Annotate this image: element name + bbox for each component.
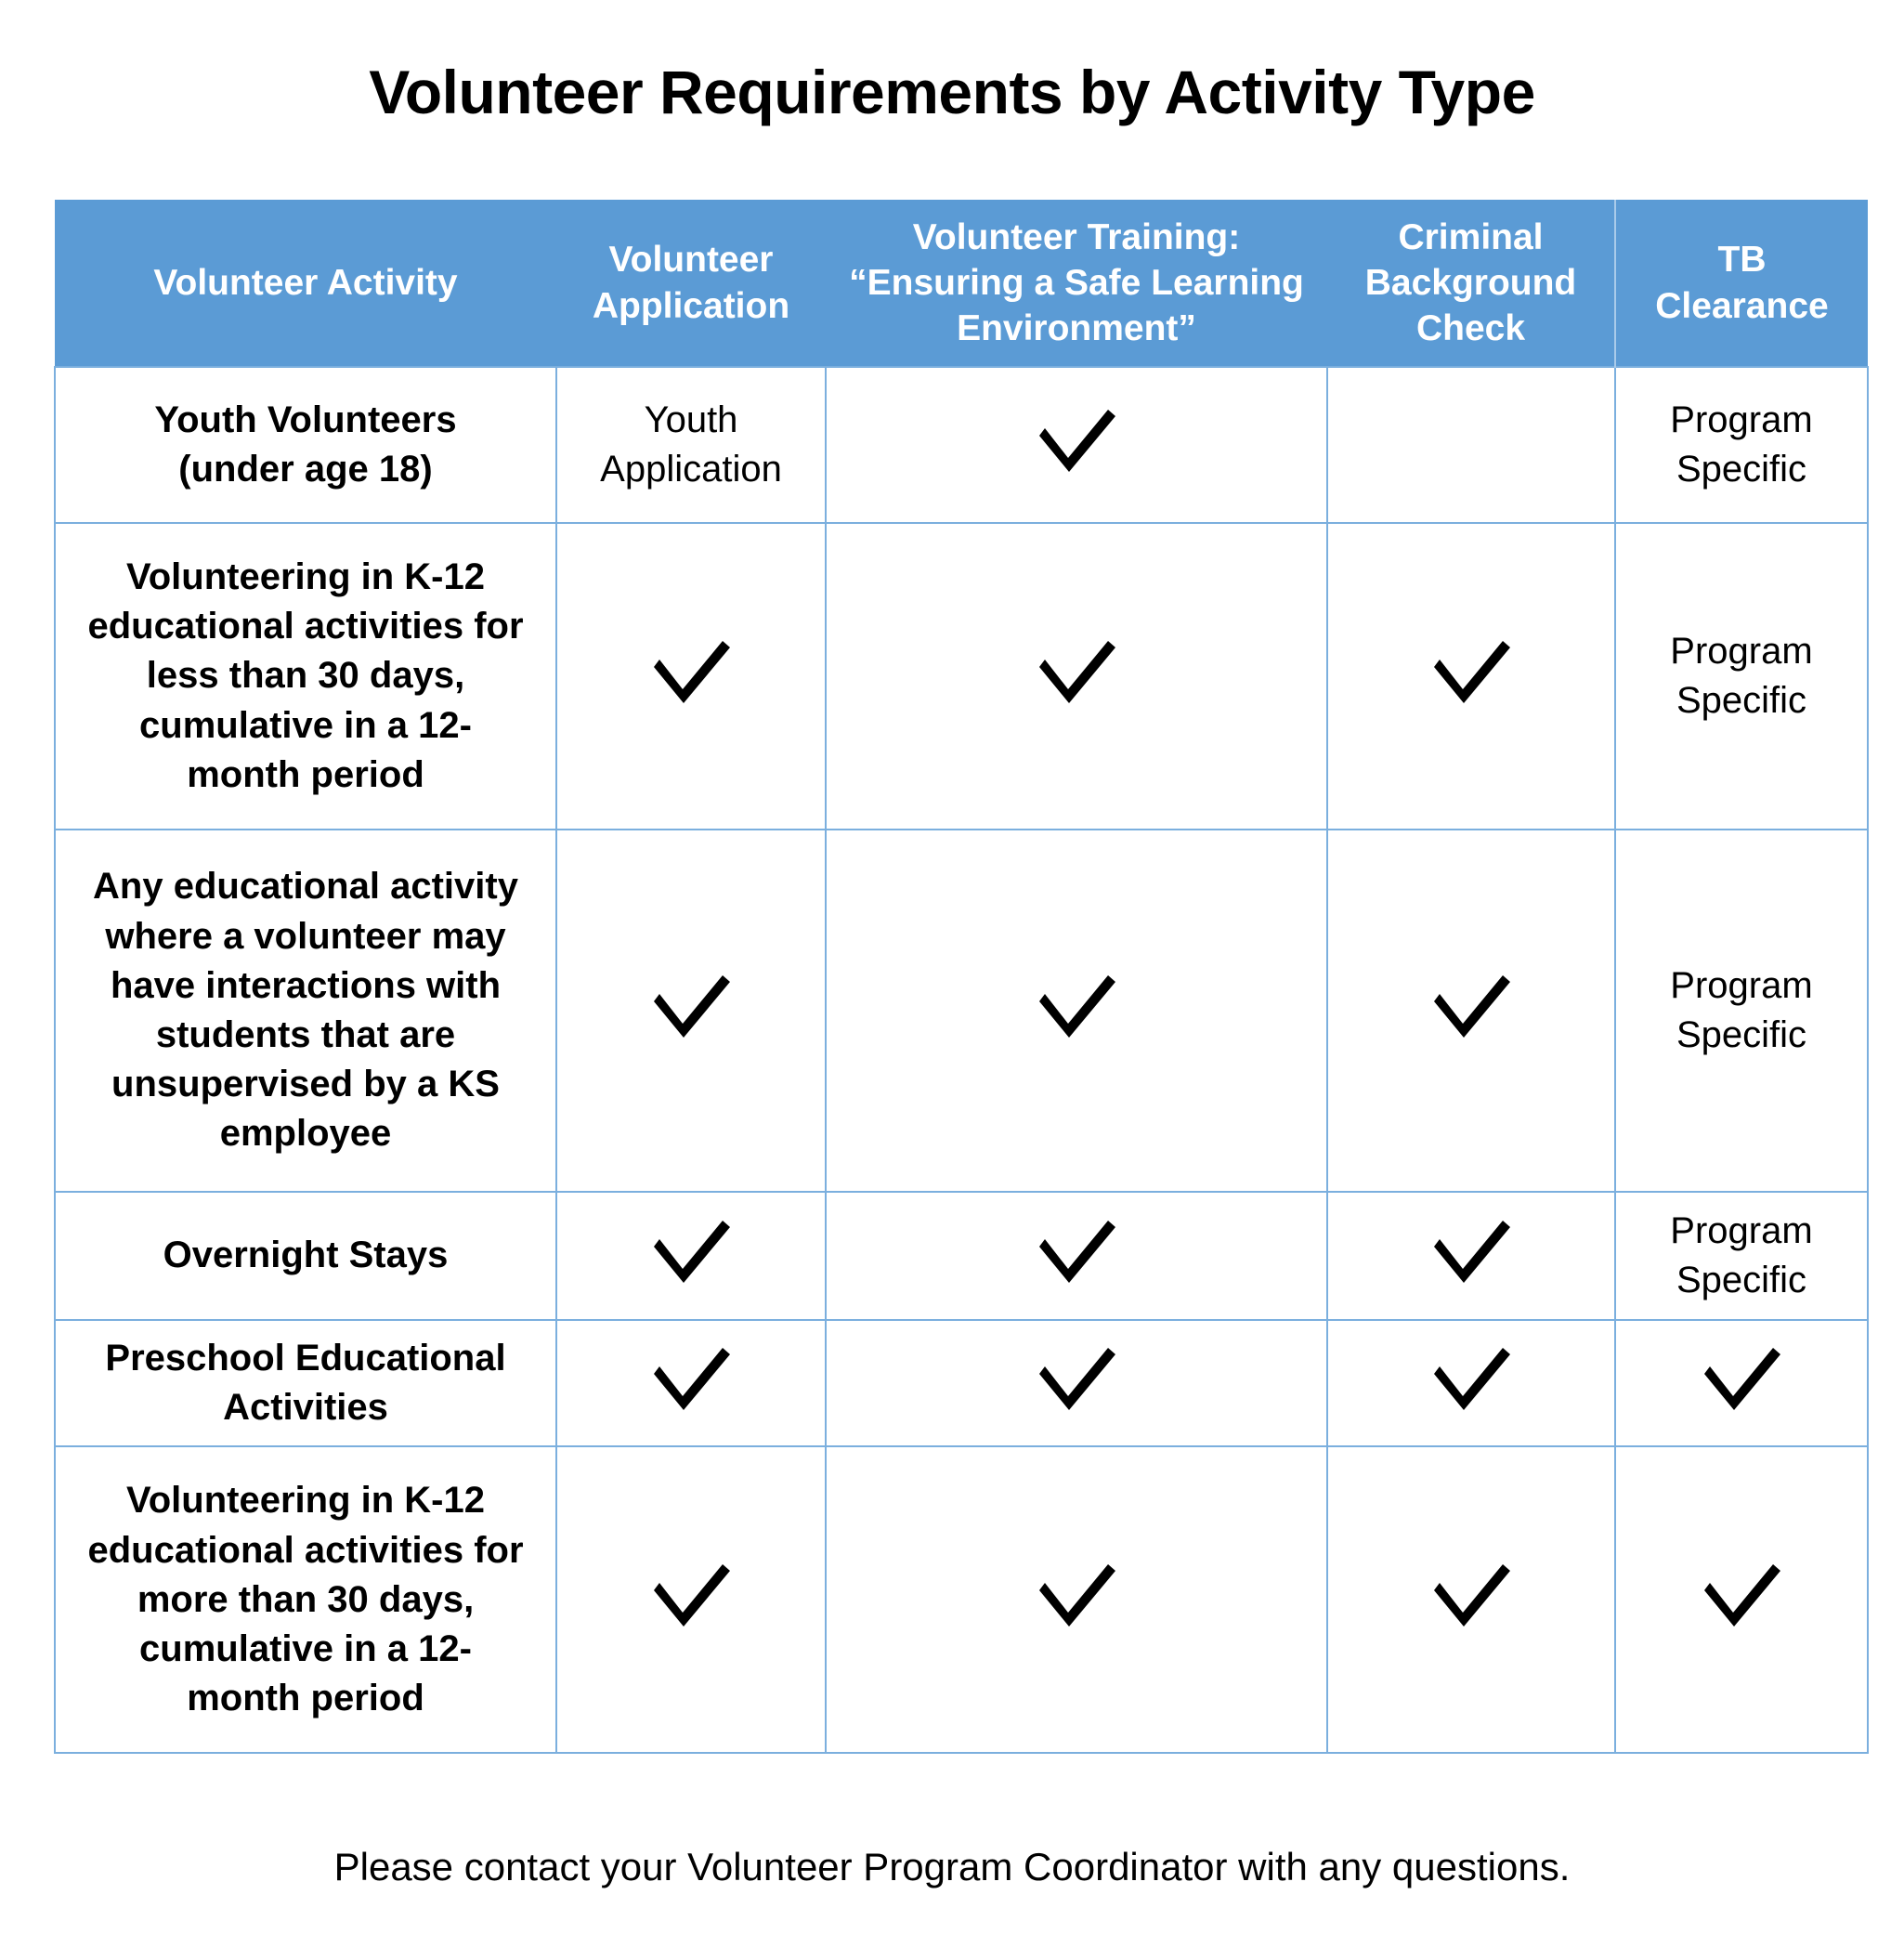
row-activity-label: Preschool Educational Activities: [55, 1320, 556, 1446]
row-activity-label: Any educational activity where a volunte…: [55, 830, 556, 1192]
check-mark-icon: [1428, 635, 1514, 708]
cell-volunteer-application: [556, 830, 826, 1192]
row-activity-line3: less than 30 days,: [84, 651, 528, 700]
row-activity-line2: educational activities for: [84, 602, 528, 651]
column-header-tb-clearance-line1: TB: [1616, 237, 1868, 282]
table-row: Any educational activity where a volunte…: [55, 830, 1868, 1192]
check-mark-icon: [648, 970, 734, 1042]
table-row: Volunteering in K-12 educational activit…: [55, 523, 1868, 830]
row-activity-line2: (under age 18): [84, 445, 528, 494]
row-activity-label: Overnight Stays: [55, 1192, 556, 1320]
cell-tb-clearance: Program Specific: [1615, 367, 1868, 523]
table-row: Youth Volunteers (under age 18) Youth Ap…: [55, 367, 1868, 523]
column-header-criminal-background-check-line3: Check: [1327, 306, 1614, 351]
row-activity-line1: Youth Volunteers: [84, 396, 528, 445]
column-header-criminal-background-check-line1: Criminal: [1327, 215, 1614, 260]
row-activity-line4: cumulative in a 12-: [84, 701, 528, 751]
row-activity-line1: Preschool Educational: [84, 1334, 528, 1383]
row-activity-line5: unsupervised by a KS: [84, 1060, 528, 1109]
footer-note: Please contact your Volunteer Program Co…: [0, 1845, 1904, 1889]
row-activity-line1: Any educational activity: [84, 862, 528, 911]
column-header-tb-clearance-line2: Clearance: [1616, 283, 1868, 329]
row-activity-label: Youth Volunteers (under age 18): [55, 367, 556, 523]
column-header-volunteer-training-line1: Volunteer Training:: [826, 215, 1327, 260]
row-activity-line6: employee: [84, 1109, 528, 1158]
check-mark-icon: [1034, 970, 1119, 1042]
cell-volunteer-application: [556, 1446, 826, 1753]
cell-tb-clearance-line2: Specific: [1625, 1256, 1858, 1305]
cell-criminal-background-check: [1327, 1320, 1615, 1446]
row-activity-label: Volunteering in K-12 educational activit…: [55, 523, 556, 830]
cell-criminal-background-check: [1327, 367, 1615, 523]
row-activity-line3: have interactions with: [84, 961, 528, 1011]
cell-tb-clearance-line1: Program: [1625, 961, 1858, 1011]
row-activity-label: Volunteering in K-12 educational activit…: [55, 1446, 556, 1753]
cell-tb-clearance-line1: Program: [1625, 396, 1858, 445]
page-title: Volunteer Requirements by Activity Type: [0, 58, 1904, 128]
cell-tb-clearance: Program Specific: [1615, 830, 1868, 1192]
cell-volunteer-training: [826, 1192, 1327, 1320]
cell-volunteer-training: [826, 830, 1327, 1192]
column-header-volunteer-application-line1: Volunteer: [556, 237, 826, 282]
check-mark-icon: [1699, 1342, 1784, 1415]
table-body: Youth Volunteers (under age 18) Youth Ap…: [55, 367, 1868, 1753]
column-header-volunteer-activity-label: Volunteer Activity: [153, 263, 457, 303]
volunteer-requirements-page: Volunteer Requirements by Activity Type …: [0, 0, 1904, 1947]
cell-tb-clearance: Program Specific: [1615, 523, 1868, 830]
check-mark-icon: [1428, 970, 1514, 1042]
row-activity-line2: educational activities for: [84, 1526, 528, 1575]
cell-tb-clearance-line2: Specific: [1625, 1011, 1858, 1060]
check-mark-icon: [1428, 1559, 1514, 1631]
check-mark-icon: [1699, 1559, 1784, 1631]
row-activity-line5: month period: [84, 751, 528, 800]
check-mark-icon: [1428, 1215, 1514, 1287]
column-header-criminal-background-check: Criminal Background Check: [1327, 200, 1615, 367]
cell-volunteer-application: [556, 1192, 826, 1320]
cell-criminal-background-check: [1327, 830, 1615, 1192]
cell-tb-clearance-line2: Specific: [1625, 445, 1858, 494]
volunteer-requirements-table: Volunteer Activity Volunteer Application…: [54, 200, 1869, 1754]
cell-tb-clearance-line2: Specific: [1625, 676, 1858, 725]
row-activity-line5: month period: [84, 1674, 528, 1723]
cell-volunteer-application: [556, 1320, 826, 1446]
cell-criminal-background-check: [1327, 1192, 1615, 1320]
table-row: Preschool Educational Activities: [55, 1320, 1868, 1446]
cell-volunteer-training: [826, 1320, 1327, 1446]
row-activity-line4: students that are: [84, 1011, 528, 1060]
check-mark-icon: [648, 1559, 734, 1631]
check-mark-icon: [1034, 635, 1119, 708]
table-row: Volunteering in K-12 educational activit…: [55, 1446, 1868, 1753]
check-mark-icon: [648, 635, 734, 708]
column-header-volunteer-training-line3: Environment”: [826, 306, 1327, 351]
check-mark-icon: [1034, 404, 1119, 477]
row-activity-line1: Volunteering in K-12: [84, 1476, 528, 1525]
column-header-volunteer-activity: Volunteer Activity: [55, 200, 556, 367]
cell-tb-clearance-line1: Program: [1625, 627, 1858, 676]
column-header-tb-clearance: TB Clearance: [1615, 200, 1868, 367]
cell-volunteer-application: [556, 523, 826, 830]
row-activity-line3: more than 30 days,: [84, 1575, 528, 1625]
check-mark-icon: [1034, 1215, 1119, 1287]
check-mark-icon: [648, 1215, 734, 1287]
table-header-row: Volunteer Activity Volunteer Application…: [55, 200, 1868, 367]
cell-tb-clearance: [1615, 1446, 1868, 1753]
row-activity-line1: Volunteering in K-12: [84, 553, 528, 602]
check-mark-icon: [1034, 1342, 1119, 1415]
cell-volunteer-training: [826, 523, 1327, 830]
table-header: Volunteer Activity Volunteer Application…: [55, 200, 1868, 367]
cell-volunteer-application: Youth Application: [556, 367, 826, 523]
cell-tb-clearance: [1615, 1320, 1868, 1446]
cell-criminal-background-check: [1327, 1446, 1615, 1753]
cell-tb-clearance: Program Specific: [1615, 1192, 1868, 1320]
column-header-criminal-background-check-line2: Background: [1327, 260, 1614, 306]
column-header-volunteer-training-line2: “Ensuring a Safe Learning: [826, 260, 1327, 306]
cell-tb-clearance-line1: Program: [1625, 1207, 1858, 1256]
column-header-volunteer-training: Volunteer Training: “Ensuring a Safe Lea…: [826, 200, 1327, 367]
check-mark-icon: [648, 1342, 734, 1415]
check-mark-icon: [1034, 1559, 1119, 1631]
row-activity-line2: Activities: [84, 1383, 528, 1432]
check-mark-icon: [1428, 1342, 1514, 1415]
row-activity-line2: where a volunteer may: [84, 912, 528, 961]
cell-volunteer-training: [826, 367, 1327, 523]
cell-volunteer-application-line1: Youth: [567, 396, 815, 445]
row-activity-line4: cumulative in a 12-: [84, 1625, 528, 1674]
cell-criminal-background-check: [1327, 523, 1615, 830]
row-activity-line1: Overnight Stays: [84, 1231, 528, 1280]
column-header-volunteer-application: Volunteer Application: [556, 200, 826, 367]
cell-volunteer-application-line2: Application: [567, 445, 815, 494]
column-header-volunteer-application-line2: Application: [556, 283, 826, 329]
cell-volunteer-training: [826, 1446, 1327, 1753]
table-row: Overnight Stays: [55, 1192, 1868, 1320]
